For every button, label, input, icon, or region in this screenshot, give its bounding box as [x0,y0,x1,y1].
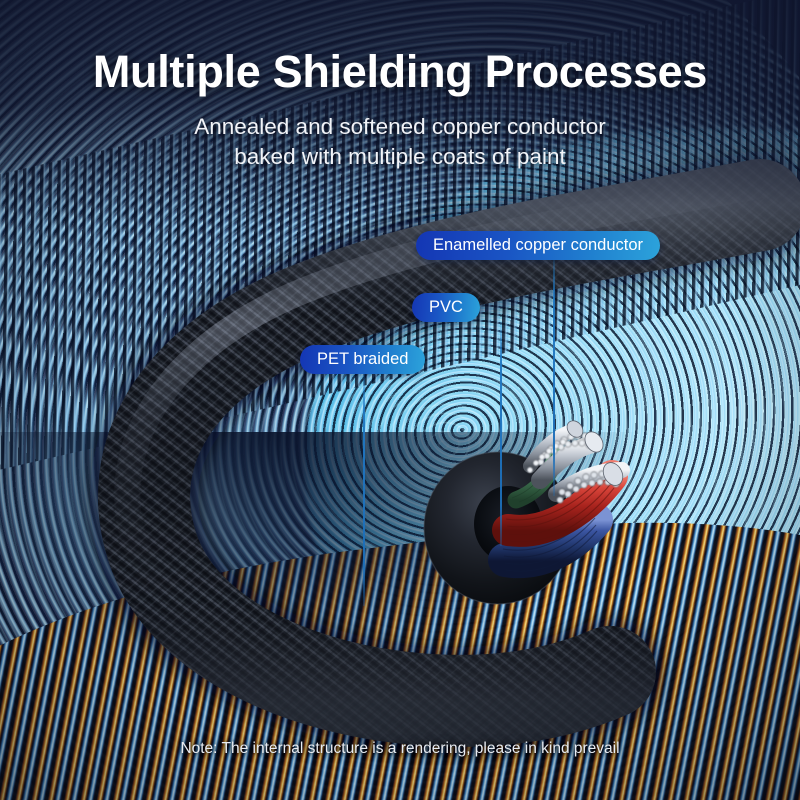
subtitle-line-1: Annealed and softened copper conductor [0,112,800,142]
disclaimer-note: Note: The internal structure is a render… [0,740,800,758]
callout-pet-braided[interactable]: PET braided [300,345,425,374]
leader-line-pvc [500,322,502,546]
page-title: Multiple Shielding Processes [0,48,800,95]
subtitle-line-2: baked with multiple coats of paint [0,142,800,172]
page-subtitle: Annealed and softened copper conductor b… [0,112,800,172]
leader-line-copper [553,260,555,496]
callout-enamelled-copper-conductor[interactable]: Enamelled copper conductor [416,231,660,260]
leader-line-pet [363,374,365,606]
product-infographic: Multiple Shielding Processes Annealed an… [0,0,800,800]
callout-pvc[interactable]: PVC [412,293,480,322]
